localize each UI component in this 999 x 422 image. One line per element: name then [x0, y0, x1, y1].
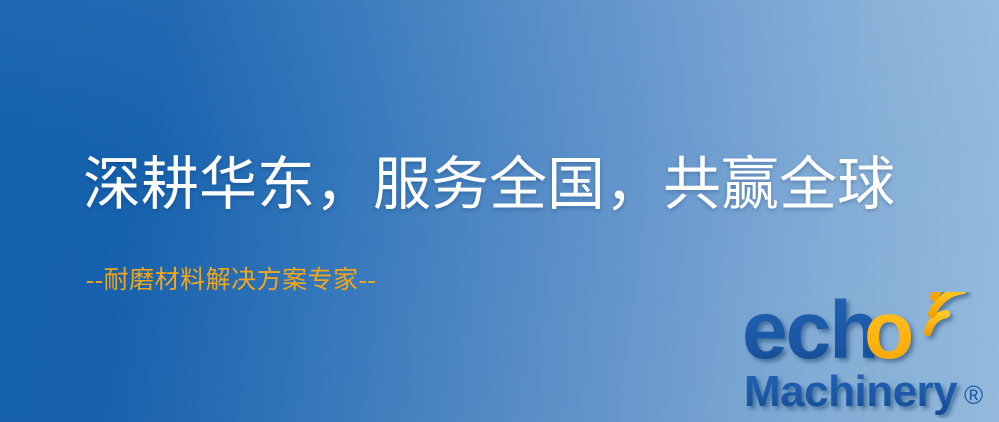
logo-subword: Machinery [744, 367, 958, 416]
logo-wordmark-blue: ech [742, 292, 877, 376]
registered-trademark-symbol: ® [964, 380, 983, 410]
logo-wordmark-gold-o: o [864, 292, 914, 376]
hero-headline: 深耕华东，服务全国，共赢全球 [83, 154, 895, 216]
svg-text:o: o [864, 292, 914, 376]
svg-text:Machinery: Machinery [744, 367, 958, 416]
hero-subtitle: --耐磨材料解决方案专家-- [86, 266, 376, 296]
svg-text:®: ® [964, 380, 983, 410]
echo-machinery-logo[interactable]: ech o Machinery ® [742, 292, 994, 418]
hero-banner: 深耕华东，服务全国，共赢全球 --耐磨材料解决方案专家-- [0, 0, 999, 422]
signal-waves-icon [928, 292, 980, 332]
svg-text:ech: ech [742, 292, 877, 376]
